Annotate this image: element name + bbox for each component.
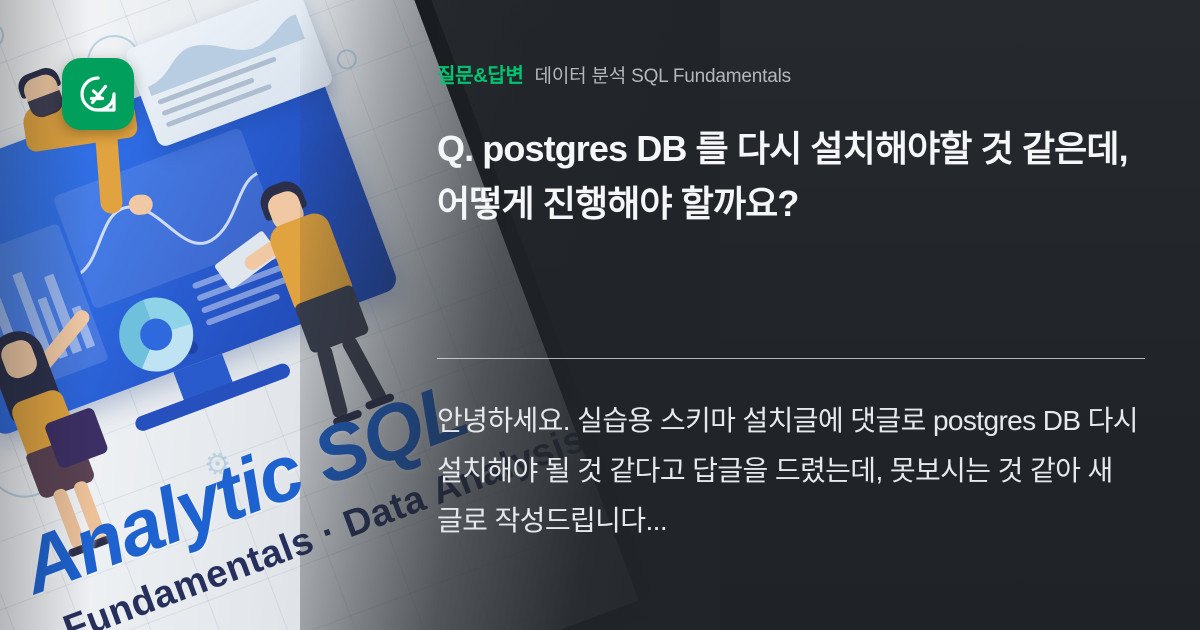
status-badge: 질문&답변: [437, 59, 524, 88]
inflearn-leaf-icon: [78, 74, 118, 114]
inflearn-logo[interactable]: [62, 58, 134, 130]
breadcrumb: 질문&답변 데이터 분석 SQL Fundamentals: [437, 59, 791, 88]
page-title: Q. postgres DB 를 다시 설치해야할 것 같은데, 어떻게 진행해…: [437, 122, 1149, 231]
post-content: 질문&답변 데이터 분석 SQL Fundamentals Q. postgre…: [437, 0, 1153, 630]
post-excerpt: 안녕하세요. 실습용 스키마 설치글에 댓글로 postgres DB 다시 설…: [437, 396, 1151, 545]
divider: [437, 358, 1145, 359]
share-card: ⚙ ⚙ ⚙: [0, 0, 1200, 630]
course-name-label: 데이터 분석 SQL Fundamentals: [535, 61, 791, 88]
